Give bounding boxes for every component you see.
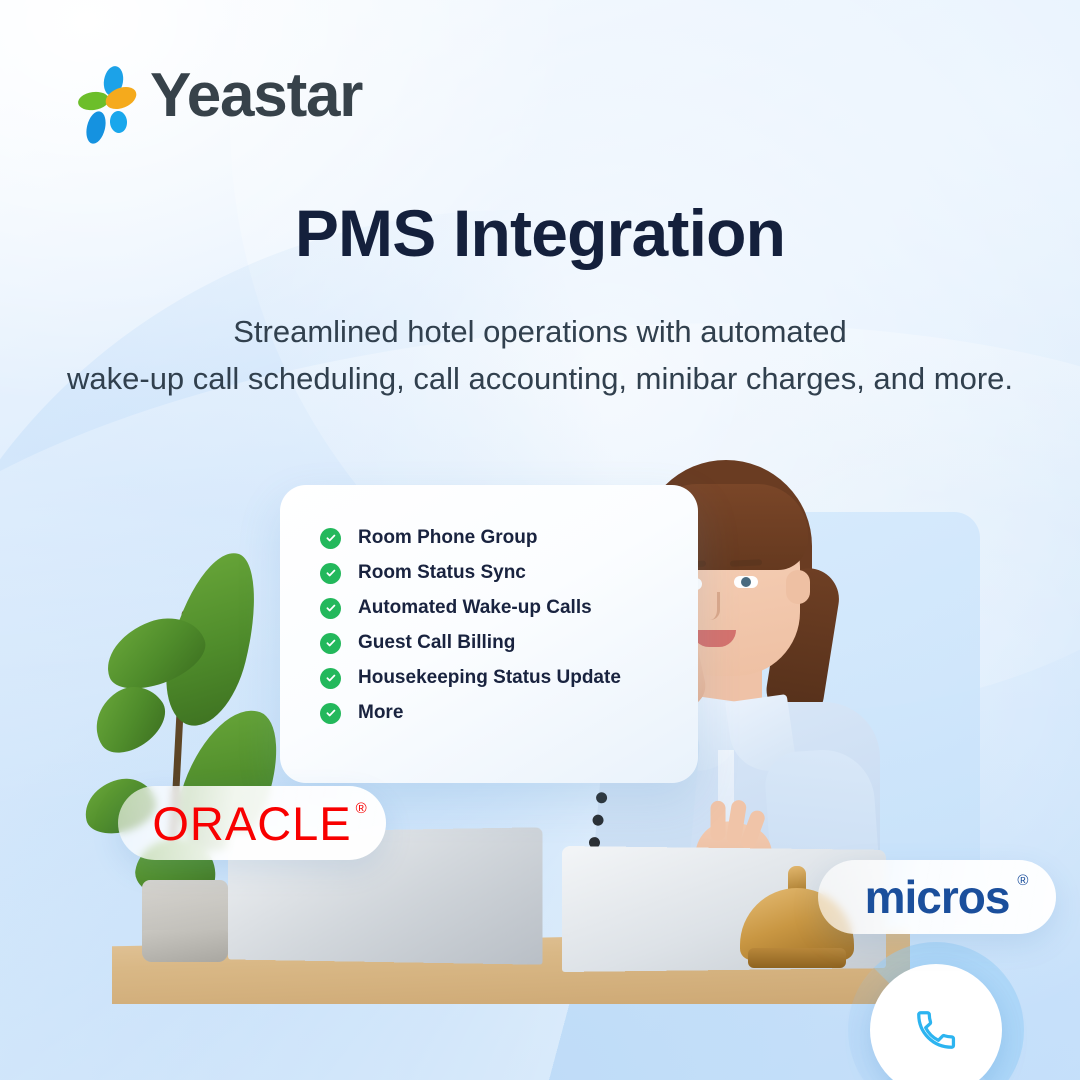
oracle-wordmark: ORACLE ®: [152, 796, 351, 851]
brand-logo[interactable]: Yeastar: [78, 64, 362, 128]
list-item[interactable]: Automated Wake-up Calls: [320, 597, 698, 619]
nose: [704, 592, 720, 620]
list-item[interactable]: Room Phone Group: [320, 527, 698, 549]
check-circle-icon: [320, 703, 341, 724]
list-item-label: Guest Call Billing: [358, 632, 515, 654]
micros-wordmark: micros ®: [865, 870, 1010, 924]
page-subtitle: Streamlined hotel operations with automa…: [0, 308, 1080, 402]
micros-label: micros: [865, 871, 1010, 923]
list-item[interactable]: Guest Call Billing: [320, 632, 698, 654]
planter-pot: [142, 880, 228, 962]
partner-badge-micros[interactable]: micros ®: [818, 860, 1056, 934]
subtitle-line-1: Streamlined hotel operations with automa…: [0, 308, 1080, 355]
phone-handset-icon: [913, 1007, 959, 1053]
registered-mark: ®: [1017, 872, 1027, 889]
list-item[interactable]: Housekeeping Status Update: [320, 667, 698, 689]
hero-composition: Room Phone Group Room Status Sync Automa…: [0, 430, 1080, 1030]
plant-leaf: [82, 674, 176, 763]
list-item-label: More: [358, 702, 403, 724]
finger: [711, 801, 726, 841]
registered-mark: ®: [356, 800, 368, 817]
check-circle-icon: [320, 668, 341, 689]
check-circle-icon: [320, 598, 341, 619]
list-item-label: Room Status Sync: [358, 562, 526, 584]
promo-banner: Yeastar PMS Integration Streamlined hote…: [0, 0, 1080, 1080]
subtitle-line-2: wake-up call scheduling, call accounting…: [0, 355, 1080, 402]
oracle-label: ORACLE: [152, 797, 351, 850]
eye-right: [734, 576, 758, 588]
call-ring-graphic: [848, 942, 1024, 1080]
list-item-label: Automated Wake-up Calls: [358, 597, 592, 619]
list-item-label: Room Phone Group: [358, 527, 537, 549]
bell-base: [748, 948, 846, 968]
yeastar-pinwheel-icon: [78, 64, 136, 128]
ear: [786, 570, 810, 604]
list-item-label: Housekeeping Status Update: [358, 667, 621, 689]
brand-wordmark: Yeastar: [150, 65, 362, 127]
list-item[interactable]: Room Status Sync: [320, 562, 698, 584]
page-title: PMS Integration: [0, 195, 1080, 271]
logo-petal-bottomleft: [83, 109, 108, 145]
check-circle-icon: [320, 633, 341, 654]
check-circle-icon: [320, 528, 341, 549]
partner-badge-oracle[interactable]: ORACLE ®: [118, 786, 386, 860]
list-item[interactable]: More: [320, 702, 698, 724]
logo-petal-bottomright: [109, 110, 127, 133]
feature-list-card: Room Phone Group Room Status Sync Automa…: [280, 485, 698, 783]
check-circle-icon: [320, 563, 341, 584]
